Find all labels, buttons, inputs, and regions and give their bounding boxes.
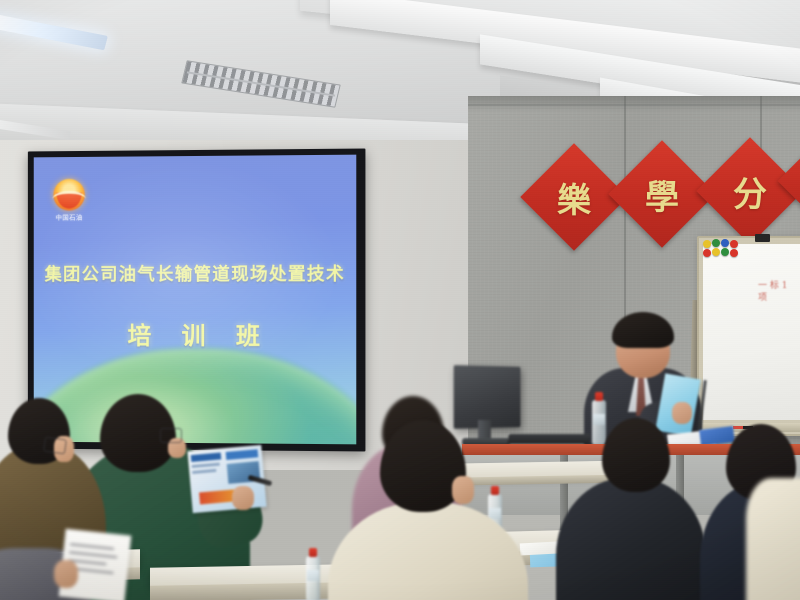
water-bottle [592, 400, 606, 446]
earth-globe-rim [34, 348, 357, 444]
attendee-foreground-hand [54, 560, 78, 588]
magnet-icon [712, 239, 720, 247]
projector-screen-frame: 中国石油 集团公司油气长输管道现场处置技术 培 训 班 [28, 149, 366, 452]
placard-char-2: 學 [624, 156, 700, 232]
slide-title: 集团公司油气长输管道现场处置技术 [34, 261, 357, 286]
magnet-icon [730, 240, 738, 248]
placard-fen: 分 [696, 137, 800, 244]
glasses-icon [160, 428, 182, 443]
glasses-icon [43, 437, 67, 455]
placard-char-1: 樂 [536, 159, 612, 235]
keyboard [507, 434, 591, 444]
magnet-icon [721, 239, 729, 247]
projector-screen-surface: 中国石油 集团公司油气长输管道现场处置技术 培 训 班 [34, 155, 357, 445]
water-bottle [306, 556, 320, 600]
magnet-icon [730, 249, 738, 257]
whiteboard-surface: 一 标 1 项 [703, 244, 800, 420]
slide-subtitle: 培 训 班 [34, 316, 357, 352]
wall-seam-horizontal [468, 104, 800, 106]
magnet-icon [712, 248, 720, 256]
placard-char-4 [790, 151, 800, 211]
presenter-hand [672, 402, 692, 424]
logo-caption: 中国石油 [51, 212, 86, 222]
magnet-icon [721, 248, 729, 256]
audience-desk-center-edge [150, 582, 350, 600]
placard-char-3: 分 [712, 153, 788, 229]
photo-scene: 中国石油 集团公司油气长输管道现场处置技术 培 训 班 樂 學 分 一 标 1 … [0, 0, 800, 600]
sun-arc-icon [52, 191, 85, 208]
whiteboard-note: 一 标 1 项 [758, 280, 798, 306]
attendee-beige-far-right [746, 478, 800, 600]
magnet-icon [703, 249, 711, 257]
petrochina-logo: 中国石油 [51, 179, 86, 221]
whiteboard: 一 标 1 项 [697, 236, 800, 436]
whiteboard-clip-icon [755, 234, 770, 242]
attendee-green-hand [232, 486, 254, 510]
magnet-icon [703, 240, 711, 248]
attendee-cream-ear [452, 476, 474, 504]
